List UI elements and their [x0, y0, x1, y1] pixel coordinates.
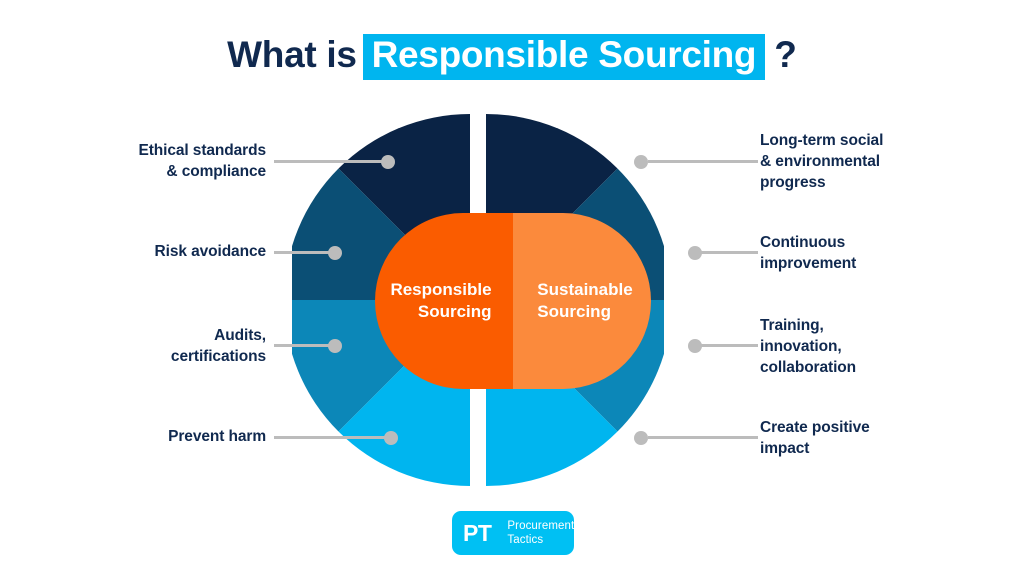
leader-dot-left-4 [384, 431, 398, 445]
leader-dot-left-3 [328, 339, 342, 353]
leader-line-right-3 [700, 344, 758, 347]
leader-line-right-4 [648, 436, 758, 439]
logo-wordmark-line1: Procurement [507, 519, 574, 533]
callout-left-1-text: Ethical standards& compliance [138, 142, 266, 180]
leader-line-right-2 [700, 251, 758, 254]
callout-left-2[interactable]: Risk avoidance [40, 242, 266, 263]
callout-right-2-text: Continuousimprovement [760, 234, 856, 272]
logo-mark-pt: PT [463, 520, 491, 547]
leader-dot-left-2 [328, 246, 342, 260]
title-question-mark: ? [774, 34, 797, 76]
leader-dot-right-4 [634, 431, 648, 445]
leader-dot-right-2 [688, 246, 702, 260]
callout-right-4-text: Create positiveimpact [760, 419, 870, 457]
capsule-sustainable-line1: Sustainable [537, 279, 632, 301]
leader-dot-left-1 [381, 155, 395, 169]
callout-left-1[interactable]: Ethical standards& compliance [40, 141, 266, 183]
callout-left-4[interactable]: Prevent harm [40, 427, 266, 448]
callout-left-3[interactable]: Audits,certifications [40, 326, 266, 368]
leader-line-left-4 [274, 436, 396, 439]
callout-left-3-text: Audits,certifications [171, 327, 266, 365]
callout-left-4-text: Prevent harm [168, 428, 266, 445]
capsule-sustainable-line2: Sourcing [537, 301, 632, 323]
capsule-responsible-line2: Sourcing [390, 301, 491, 323]
capsule-label-sustainable: Sustainable Sourcing [521, 279, 642, 324]
logo-wordmark: Procurement Tactics [507, 519, 574, 547]
leader-dot-right-1 [634, 155, 648, 169]
leader-line-left-1 [274, 160, 392, 163]
title-highlight: Responsible Sourcing [363, 34, 766, 80]
center-capsule: Responsible Sourcing Sustainable Sourcin… [375, 213, 651, 389]
callout-left-2-text: Risk avoidance [155, 243, 266, 260]
callout-right-2[interactable]: Continuousimprovement [760, 233, 990, 275]
callout-right-1-text: Long-term social& environmentalprogress [760, 132, 883, 191]
leader-line-right-1 [648, 160, 758, 163]
page-title: What isResponsible Sourcing? [0, 34, 1024, 80]
callout-right-3[interactable]: Training,innovation,collaboration [760, 316, 990, 378]
capsule-label-responsible: Responsible Sourcing [380, 279, 507, 324]
logo-procurement-tactics[interactable]: PT Procurement Tactics [452, 511, 574, 555]
callout-right-4[interactable]: Create positiveimpact [760, 418, 990, 460]
title-prefix: What is [227, 34, 356, 76]
infographic-canvas: What isResponsible Sourcing? [0, 0, 1024, 576]
capsule-responsible-line1: Responsible [390, 279, 491, 301]
callout-right-1[interactable]: Long-term social& environmentalprogress [760, 131, 990, 193]
logo-wordmark-line2: Tactics [507, 533, 574, 547]
callout-right-3-text: Training,innovation,collaboration [760, 317, 856, 376]
leader-dot-right-3 [688, 339, 702, 353]
